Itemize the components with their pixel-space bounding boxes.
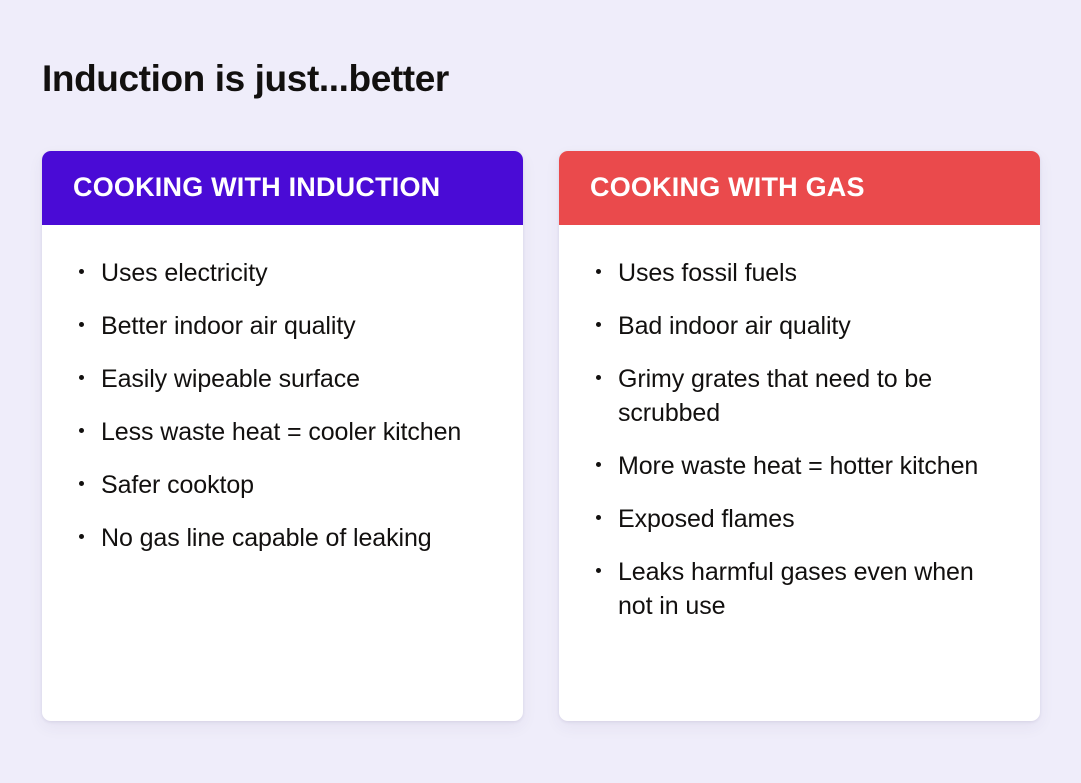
round-bullet-icon: [79, 375, 84, 380]
list-item-label: Easily wipeable surface: [101, 365, 360, 393]
comparison-infographic: Induction is just...better COOKING WITH …: [0, 0, 1081, 783]
list-item: Grimy grates that need to be scrubbed: [590, 362, 1006, 430]
list-item-label: Less waste heat = cooler kitchen: [101, 418, 461, 446]
list-item-label: No gas line capable of leaking: [101, 524, 432, 552]
list-item: Bad indoor air quality: [590, 309, 1006, 343]
round-bullet-icon: [596, 375, 601, 380]
list-item-label: More waste heat = hotter kitchen: [618, 452, 978, 480]
comparison-card-gas: COOKING WITH GAS Uses fossil fuels Bad i…: [559, 151, 1040, 721]
list-item: Easily wipeable surface: [73, 362, 489, 396]
round-bullet-icon: [596, 462, 601, 467]
list-item-label: Exposed flames: [618, 505, 794, 533]
comparison-cards: COOKING WITH INDUCTION Uses electricity …: [42, 151, 1040, 721]
card-header-induction: COOKING WITH INDUCTION: [42, 151, 523, 225]
card-body-gas: Uses fossil fuels Bad indoor air quality…: [559, 225, 1040, 721]
round-bullet-icon: [79, 322, 84, 327]
list-item: Better indoor air quality: [73, 309, 489, 343]
bullet-list-induction: Uses electricity Better indoor air quali…: [73, 256, 489, 555]
list-item: No gas line capable of leaking: [73, 521, 489, 555]
card-header-gas: COOKING WITH GAS: [559, 151, 1040, 225]
comparison-card-induction: COOKING WITH INDUCTION Uses electricity …: [42, 151, 523, 721]
card-header-title-induction: COOKING WITH INDUCTION: [73, 173, 440, 203]
round-bullet-icon: [596, 568, 601, 573]
page-title: Induction is just...better: [42, 58, 449, 101]
card-body-induction: Uses electricity Better indoor air quali…: [42, 225, 523, 721]
list-item-label: Leaks harmful gases even when not in use: [618, 558, 974, 620]
list-item: Less waste heat = cooler kitchen: [73, 415, 489, 449]
bullet-list-gas: Uses fossil fuels Bad indoor air quality…: [590, 256, 1006, 623]
round-bullet-icon: [79, 534, 84, 539]
list-item: Leaks harmful gases even when not in use: [590, 555, 1006, 623]
list-item-label: Better indoor air quality: [101, 312, 356, 340]
list-item-label: Grimy grates that need to be scrubbed: [618, 365, 932, 427]
round-bullet-icon: [79, 269, 84, 274]
list-item-label: Uses electricity: [101, 259, 268, 287]
list-item-label: Bad indoor air quality: [618, 312, 851, 340]
card-header-title-gas: COOKING WITH GAS: [590, 173, 865, 203]
round-bullet-icon: [79, 481, 84, 486]
round-bullet-icon: [79, 428, 84, 433]
list-item: Uses fossil fuels: [590, 256, 1006, 290]
list-item: Safer cooktop: [73, 468, 489, 502]
list-item: Uses electricity: [73, 256, 489, 290]
list-item: More waste heat = hotter kitchen: [590, 449, 1006, 483]
round-bullet-icon: [596, 515, 601, 520]
list-item: Exposed flames: [590, 502, 1006, 536]
round-bullet-icon: [596, 322, 601, 327]
round-bullet-icon: [596, 269, 601, 274]
list-item-label: Uses fossil fuels: [618, 259, 797, 287]
list-item-label: Safer cooktop: [101, 471, 254, 499]
